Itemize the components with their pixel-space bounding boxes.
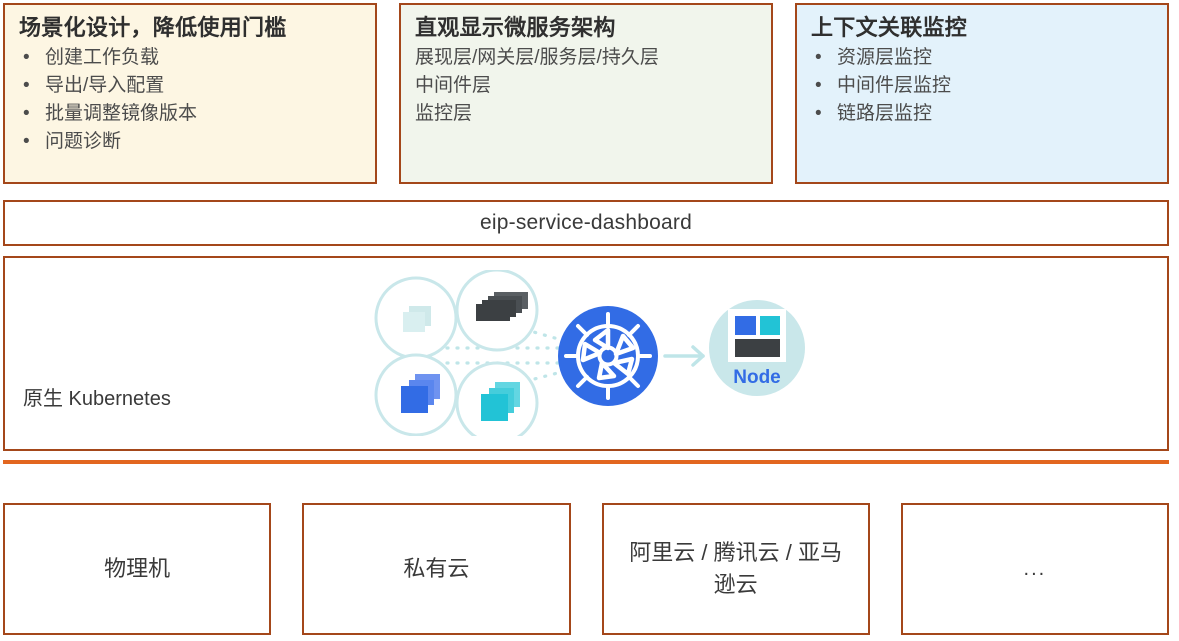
icon-circle-idle-pods — [376, 278, 456, 358]
infra-card-label: ... — [1024, 555, 1047, 584]
feature-card-list: •资源层监控 •中间件层监控 •链路层监控 — [811, 44, 1153, 128]
feature-card-scenario-design: 场景化设计，降低使用门槛 •创建工作负载 •导出/导入配置 •批量调整镜像版本 … — [3, 3, 377, 184]
list-item-label: 创建工作负载 — [45, 47, 159, 68]
list-item: •中间件层监控 — [811, 72, 1153, 100]
infra-card-label: 私有云 — [403, 553, 469, 585]
infra-card-label: 物理机 — [104, 553, 170, 585]
bullet-icon: • — [815, 100, 822, 128]
feature-card-title: 直观显示微服务架构 — [415, 14, 757, 42]
kubernetes-illustration: Node — [373, 270, 825, 436]
bullet-icon: • — [23, 100, 30, 128]
list-item: 中间件层 — [415, 72, 757, 100]
feature-card-title: 上下文关联监控 — [811, 14, 1153, 42]
bullet-icon: • — [23, 72, 30, 100]
list-item: •创建工作负载 — [19, 44, 361, 72]
flow-arrow-icon — [665, 347, 703, 365]
infra-card-more: ... — [901, 503, 1169, 635]
list-item: •资源层监控 — [811, 44, 1153, 72]
infra-card-physical-machine: 物理机 — [3, 503, 271, 635]
node-icon: Node — [709, 300, 805, 396]
kubernetes-platform-panel: 原生 Kubernetes — [3, 256, 1169, 451]
feature-card-list: •创建工作负载 •导出/导入配置 •批量调整镜像版本 •问题诊断 — [19, 44, 361, 156]
list-item-label: 中间件层监控 — [837, 75, 951, 96]
list-item-label: 资源层监控 — [837, 47, 932, 68]
list-item: 监控层 — [415, 100, 757, 128]
architecture-diagram-page: 场景化设计，降低使用门槛 •创建工作负载 •导出/导入配置 •批量调整镜像版本 … — [0, 0, 1179, 641]
dashboard-label: eip-service-dashboard — [480, 211, 692, 235]
list-item: •问题诊断 — [19, 128, 361, 156]
list-item-label: 导出/导入配置 — [45, 75, 164, 96]
feature-card-title: 场景化设计，降低使用门槛 — [19, 14, 361, 42]
platform-label: 原生 Kubernetes — [23, 382, 171, 411]
infra-card-private-cloud: 私有云 — [302, 503, 570, 635]
icon-circle-teal-pods — [457, 363, 537, 436]
bullet-icon: • — [23, 44, 30, 72]
list-item: •批量调整镜像版本 — [19, 100, 361, 128]
list-item: 展现层/网关层/服务层/持久层 — [415, 44, 757, 72]
icon-circle-blue-pods — [376, 355, 456, 435]
feature-card-context-monitoring: 上下文关联监控 •资源层监控 •中间件层监控 •链路层监控 — [795, 3, 1169, 184]
infrastructure-row: 物理机 私有云 阿里云 / 腾讯云 / 亚马逊云 ... — [3, 503, 1169, 635]
node-label: Node — [733, 367, 781, 388]
infra-card-public-clouds: 阿里云 / 腾讯云 / 亚马逊云 — [602, 503, 870, 635]
feature-card-microservice-architecture: 直观显示微服务架构 展现层/网关层/服务层/持久层 中间件层 监控层 — [399, 3, 773, 184]
infra-card-label: 阿里云 / 腾讯云 / 亚马逊云 — [620, 537, 852, 601]
list-item-label: 批量调整镜像版本 — [45, 103, 197, 124]
dashboard-bar: eip-service-dashboard — [3, 200, 1169, 246]
feature-card-row: 场景化设计，降低使用门槛 •创建工作负载 •导出/导入配置 •批量调整镜像版本 … — [3, 3, 1169, 184]
bullet-icon: • — [23, 128, 30, 156]
bullet-icon: • — [815, 44, 822, 72]
section-divider-rule — [3, 460, 1169, 464]
feature-card-list: 展现层/网关层/服务层/持久层 中间件层 监控层 — [415, 44, 757, 128]
list-item-label: 链路层监控 — [837, 103, 932, 124]
list-item-label: 问题诊断 — [45, 131, 121, 152]
bullet-icon: • — [815, 72, 822, 100]
list-item: •导出/导入配置 — [19, 72, 361, 100]
kubernetes-logo-icon — [558, 306, 658, 406]
list-item: •链路层监控 — [811, 100, 1153, 128]
icon-circle-dark-layers — [457, 270, 537, 350]
